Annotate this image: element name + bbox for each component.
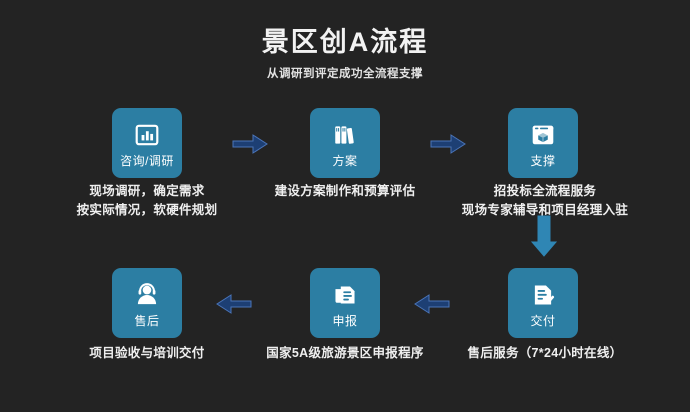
step-card-label: 售后 bbox=[134, 315, 159, 327]
step-card-application[interactable]: 申报 bbox=[310, 268, 380, 338]
arrow-step5-to-step6 bbox=[213, 291, 253, 317]
flowchart-canvas: 景区创A流程 从调研到评定成功全流程支撑 咨询/调研 bbox=[0, 0, 690, 412]
step-card-aftersales[interactable]: 售后 bbox=[112, 268, 182, 338]
window-box-icon bbox=[530, 122, 556, 148]
step-card-consultation[interactable]: 咨询/调研 bbox=[112, 108, 182, 178]
bar-chart-icon bbox=[134, 122, 160, 148]
page-title: 景区创A流程 bbox=[0, 26, 690, 58]
header: 景区创A流程 从调研到评定成功全流程支撑 bbox=[0, 26, 690, 81]
document-check-icon bbox=[530, 282, 556, 308]
step-card-label: 申报 bbox=[332, 315, 357, 327]
caption-line: 建设方案制作和预算评估 bbox=[275, 182, 416, 201]
step-caption-aftersales: 项目验收与培训交付 bbox=[89, 344, 204, 363]
page-subtitle: 从调研到评定成功全流程支撑 bbox=[0, 65, 690, 81]
arrow-step4-to-step5 bbox=[411, 291, 451, 317]
step-caption-plan: 建设方案制作和预算评估 bbox=[275, 182, 416, 201]
step-card-plan[interactable]: 方案 bbox=[310, 108, 380, 178]
step-card-label: 支撑 bbox=[530, 155, 555, 167]
documents-icon bbox=[332, 282, 358, 308]
step-card-delivery[interactable]: 交付 bbox=[508, 268, 578, 338]
step-caption-delivery: 售后服务（7*24小时在线） bbox=[468, 344, 623, 363]
books-icon bbox=[332, 122, 358, 148]
arrow-step3-to-step4 bbox=[529, 214, 559, 258]
caption-line: 项目验收与培训交付 bbox=[89, 344, 204, 363]
step-card-label: 方案 bbox=[332, 155, 357, 167]
arrow-step2-to-step3 bbox=[429, 131, 469, 157]
step-caption-application: 国家5A级旅游景区申报程序 bbox=[266, 344, 423, 363]
caption-line: 现场调研，确定需求 bbox=[77, 182, 218, 201]
headset-support-icon bbox=[134, 282, 160, 308]
caption-line: 售后服务（7*24小时在线） bbox=[468, 344, 623, 363]
step-card-support[interactable]: 支撑 bbox=[508, 108, 578, 178]
arrow-step1-to-step2 bbox=[231, 131, 271, 157]
caption-line: 招投标全流程服务 bbox=[462, 182, 628, 201]
caption-line: 按实际情况，软硬件规划 bbox=[77, 201, 218, 220]
caption-line: 国家5A级旅游景区申报程序 bbox=[266, 344, 423, 363]
step-caption-consultation: 现场调研，确定需求 按实际情况，软硬件规划 bbox=[77, 182, 218, 221]
step-card-label: 咨询/调研 bbox=[120, 155, 174, 167]
step-card-label: 交付 bbox=[530, 315, 555, 327]
